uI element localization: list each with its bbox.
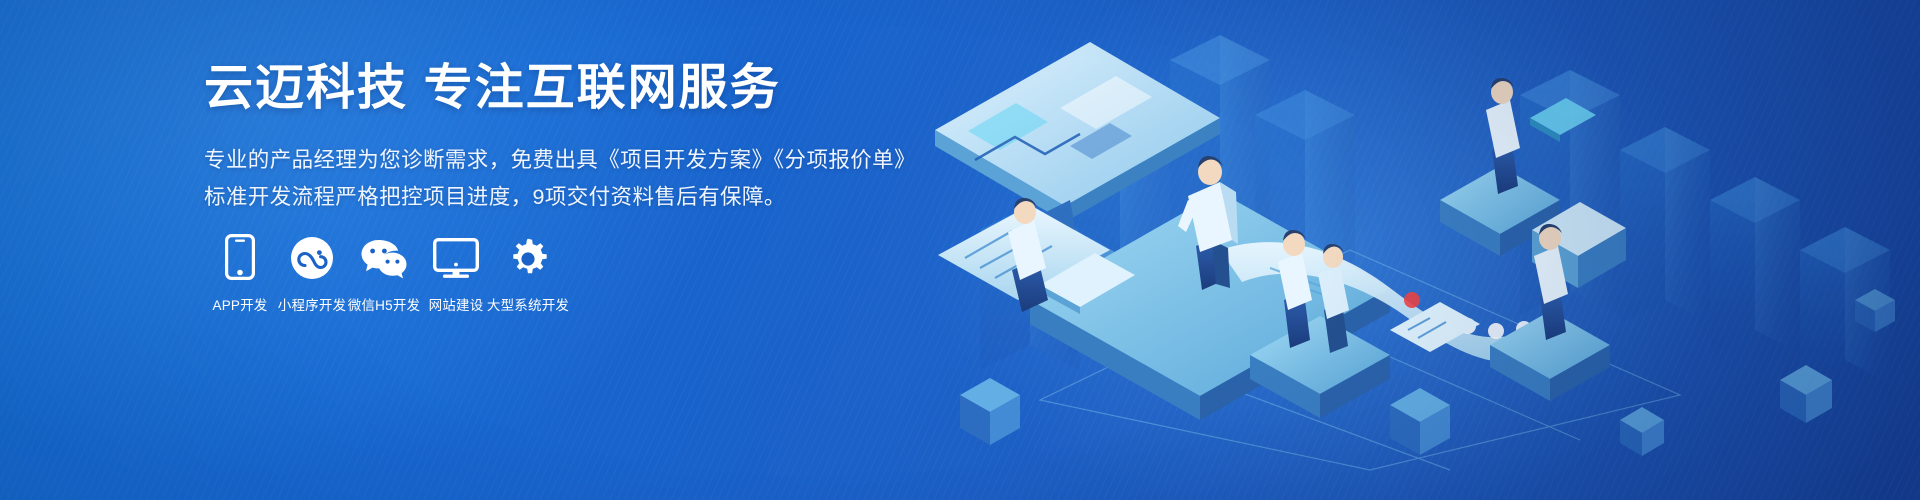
service-label: 微信H5开发: [348, 294, 420, 314]
banner-copy: 云迈科技 专注互联网服务 专业的产品经理为您诊断需求，免费出具《项目开发方案》《…: [204, 60, 924, 216]
promo-banner: 云迈科技 专注互联网服务 专业的产品经理为您诊断需求，免费出具《项目开发方案》《…: [0, 0, 1920, 500]
wechat-icon: [360, 232, 408, 280]
service-item-wechat-h5[interactable]: 微信H5开发: [348, 232, 420, 314]
service-item-mini-program[interactable]: 小程序开发: [276, 232, 348, 314]
mobile-phone-icon: [225, 232, 255, 280]
subtitle-line-1: 专业的产品经理为您诊断需求，免费出具《项目开发方案》《分项报价单》: [204, 142, 924, 179]
page-title: 云迈科技 专注互联网服务: [204, 60, 924, 116]
subtitle-block: 专业的产品经理为您诊断需求，免费出具《项目开发方案》《分项报价单》 标准开发流程…: [204, 142, 924, 216]
service-label: 大型系统开发: [487, 294, 569, 314]
gear-icon: [506, 232, 550, 280]
service-item-large-system[interactable]: 大型系统开发: [492, 232, 564, 314]
service-item-app[interactable]: APP开发: [204, 232, 276, 314]
service-list: APP开发 小程序开发: [204, 232, 564, 314]
service-label: 小程序开发: [278, 294, 347, 314]
isometric-illustration: [920, 0, 1920, 500]
service-item-website[interactable]: 网站建设: [420, 232, 492, 314]
service-label: 网站建设: [429, 294, 484, 314]
mini-program-icon: [290, 232, 334, 280]
service-label: APP开发: [212, 294, 267, 314]
monitor-icon: [433, 232, 479, 280]
subtitle-line-2: 标准开发流程严格把控项目进度，9项交付资料售后有保障。: [204, 179, 924, 216]
